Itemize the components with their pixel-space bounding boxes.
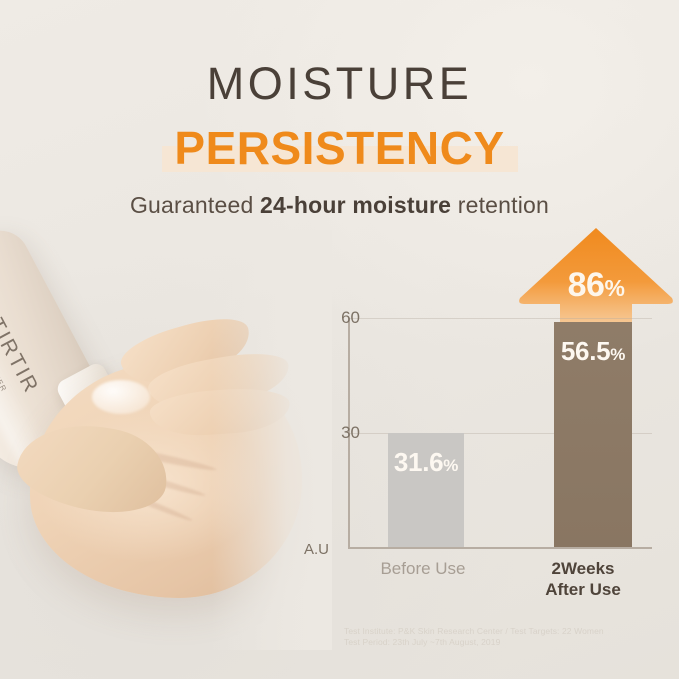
category-label-after-use-line1: 2Weeks xyxy=(502,558,664,579)
category-label-after-use: 2Weeks After Use xyxy=(502,558,664,600)
headline-line-1: MOISTURE xyxy=(0,58,679,110)
bar-value-after: 56.5% xyxy=(554,336,632,367)
bar-value-after-unit: % xyxy=(610,345,625,364)
bar-value-before-unit: % xyxy=(443,456,458,475)
x-axis-line xyxy=(348,547,652,549)
chart-plot-area: 31.6% 56.5% xyxy=(348,318,652,548)
footnote-line-1: Test Institute: P&K Skin Research Center… xyxy=(344,626,664,637)
advertisement-canvas: TIRTIR MILK SKIN TONER Moisturizing Care… xyxy=(0,0,679,679)
y-tick-30: 30 xyxy=(341,423,360,443)
subtitle-prefix: Guaranteed xyxy=(130,192,260,218)
headline-line-2: PERSISTENCY xyxy=(0,120,679,176)
moisture-bar-chart: 31.6% 56.5% 60 30 A.U Before Use 2Weeks … xyxy=(304,296,672,626)
product-photo: TIRTIR MILK SKIN TONER Moisturizing Care xyxy=(0,230,330,650)
category-label-before-use: Before Use xyxy=(348,558,498,579)
subtitle: Guaranteed 24-hour moisture retention xyxy=(0,192,679,219)
study-footnote: Test Institute: P&K Skin Research Center… xyxy=(344,626,664,648)
subtitle-emphasis: 24-hour moisture xyxy=(260,192,451,218)
category-label-before-use-line1: Before Use xyxy=(348,558,498,579)
footnote-line-2: Test Period: 23th July ~7th August, 2019 xyxy=(344,637,664,648)
bar-after-use: 56.5% xyxy=(554,322,632,548)
y-axis-unit-label: A.U xyxy=(304,541,329,558)
subtitle-suffix: retention xyxy=(451,192,549,218)
category-label-after-use-line2: After Use xyxy=(502,579,664,600)
toner-droplet xyxy=(92,380,150,414)
bar-value-after-number: 56.5 xyxy=(561,336,610,366)
bar-value-before: 31.6% xyxy=(388,447,464,478)
headline-line-2-wrapper: PERSISTENCY xyxy=(0,120,679,176)
gridline-60 xyxy=(348,318,652,319)
bar-value-before-number: 31.6 xyxy=(394,447,443,477)
bar-before-use: 31.6% xyxy=(388,433,464,548)
y-tick-60: 60 xyxy=(341,308,360,328)
